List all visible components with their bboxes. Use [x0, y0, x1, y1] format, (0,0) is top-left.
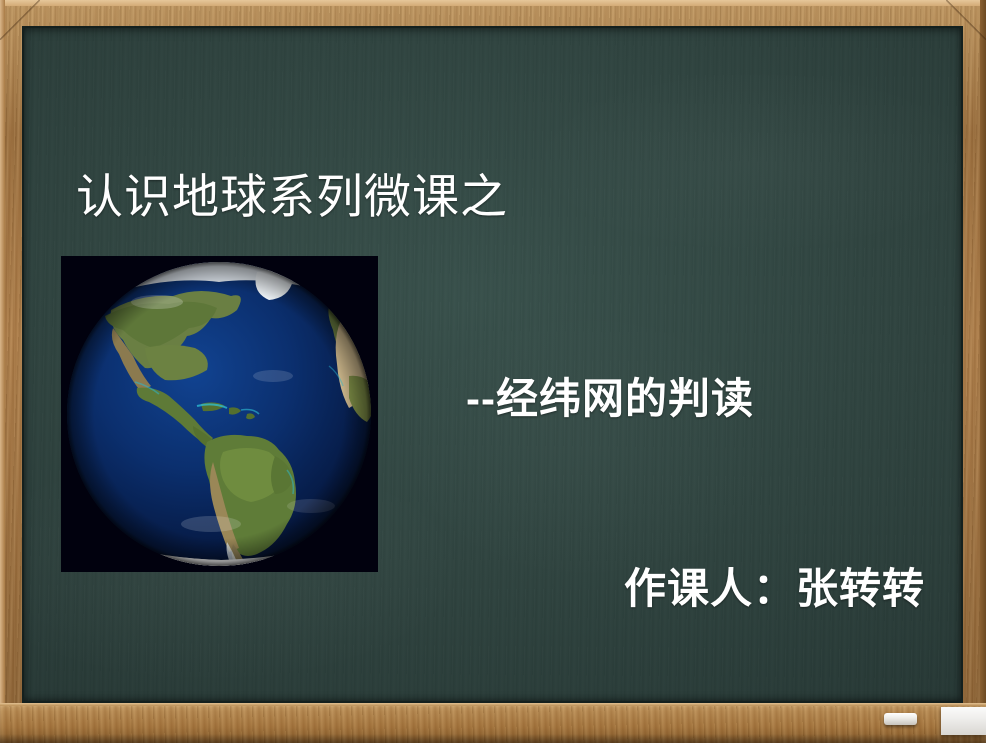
board-eraser-icon[interactable] [941, 707, 986, 735]
chalk-stick-icon[interactable] [884, 713, 917, 725]
chalk-tray-lip [0, 703, 986, 706]
chalk-tray [0, 703, 986, 743]
slide-presenter-credit: 作课人：张转转 [624, 562, 925, 616]
frame-left-bevel [0, 0, 5, 743]
presentation-slide: 认识地球系列微课之 --经纬网的判读 作课人：张转转 [0, 0, 986, 743]
slide-subtitle: --经纬网的判读 [466, 372, 754, 426]
earth-globe-image [61, 256, 378, 572]
chalk-tray-shadow [0, 734, 986, 743]
frame-top-bevel [0, 0, 986, 6]
frame-right-bevel [980, 0, 986, 743]
slide-title-primary: 认识地球系列微课之 [76, 168, 508, 226]
